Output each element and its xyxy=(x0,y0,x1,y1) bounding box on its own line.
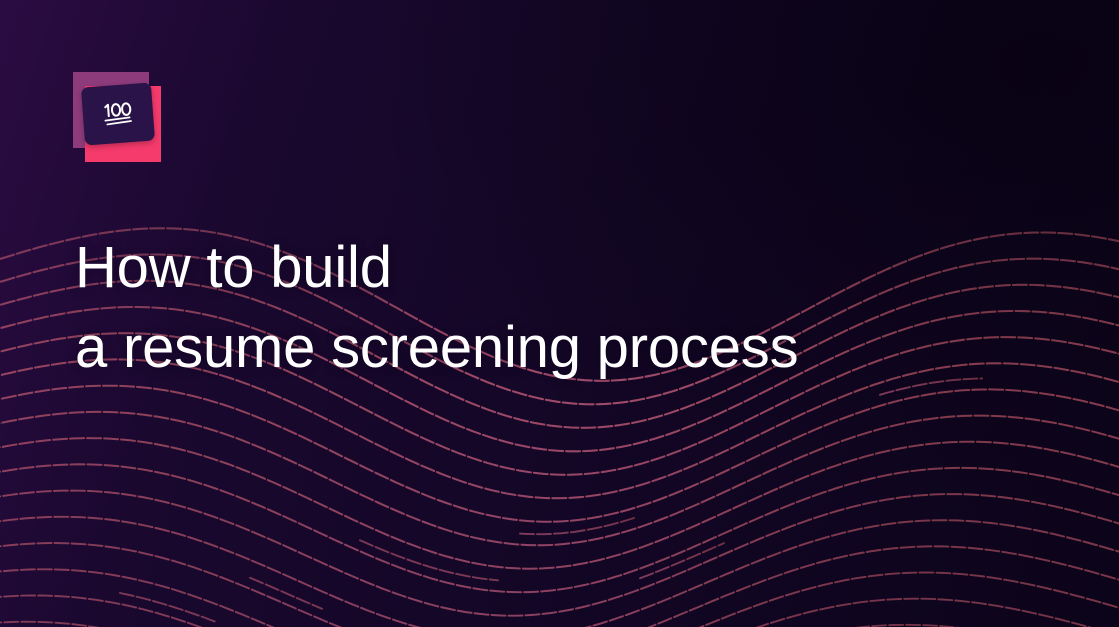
wave-line xyxy=(0,412,1119,545)
brand-logo[interactable] xyxy=(73,72,161,162)
wave-line xyxy=(0,543,1119,627)
page-title: How to build a resume screening process xyxy=(75,228,955,388)
logo-card xyxy=(81,83,155,146)
wave-line xyxy=(0,622,1119,627)
hundred-points-icon xyxy=(100,98,136,130)
wave-line xyxy=(0,491,1119,616)
banner-canvas: How to build a resume screening process xyxy=(0,0,1119,627)
wave-line xyxy=(0,386,1119,522)
wave-line xyxy=(0,569,1119,627)
